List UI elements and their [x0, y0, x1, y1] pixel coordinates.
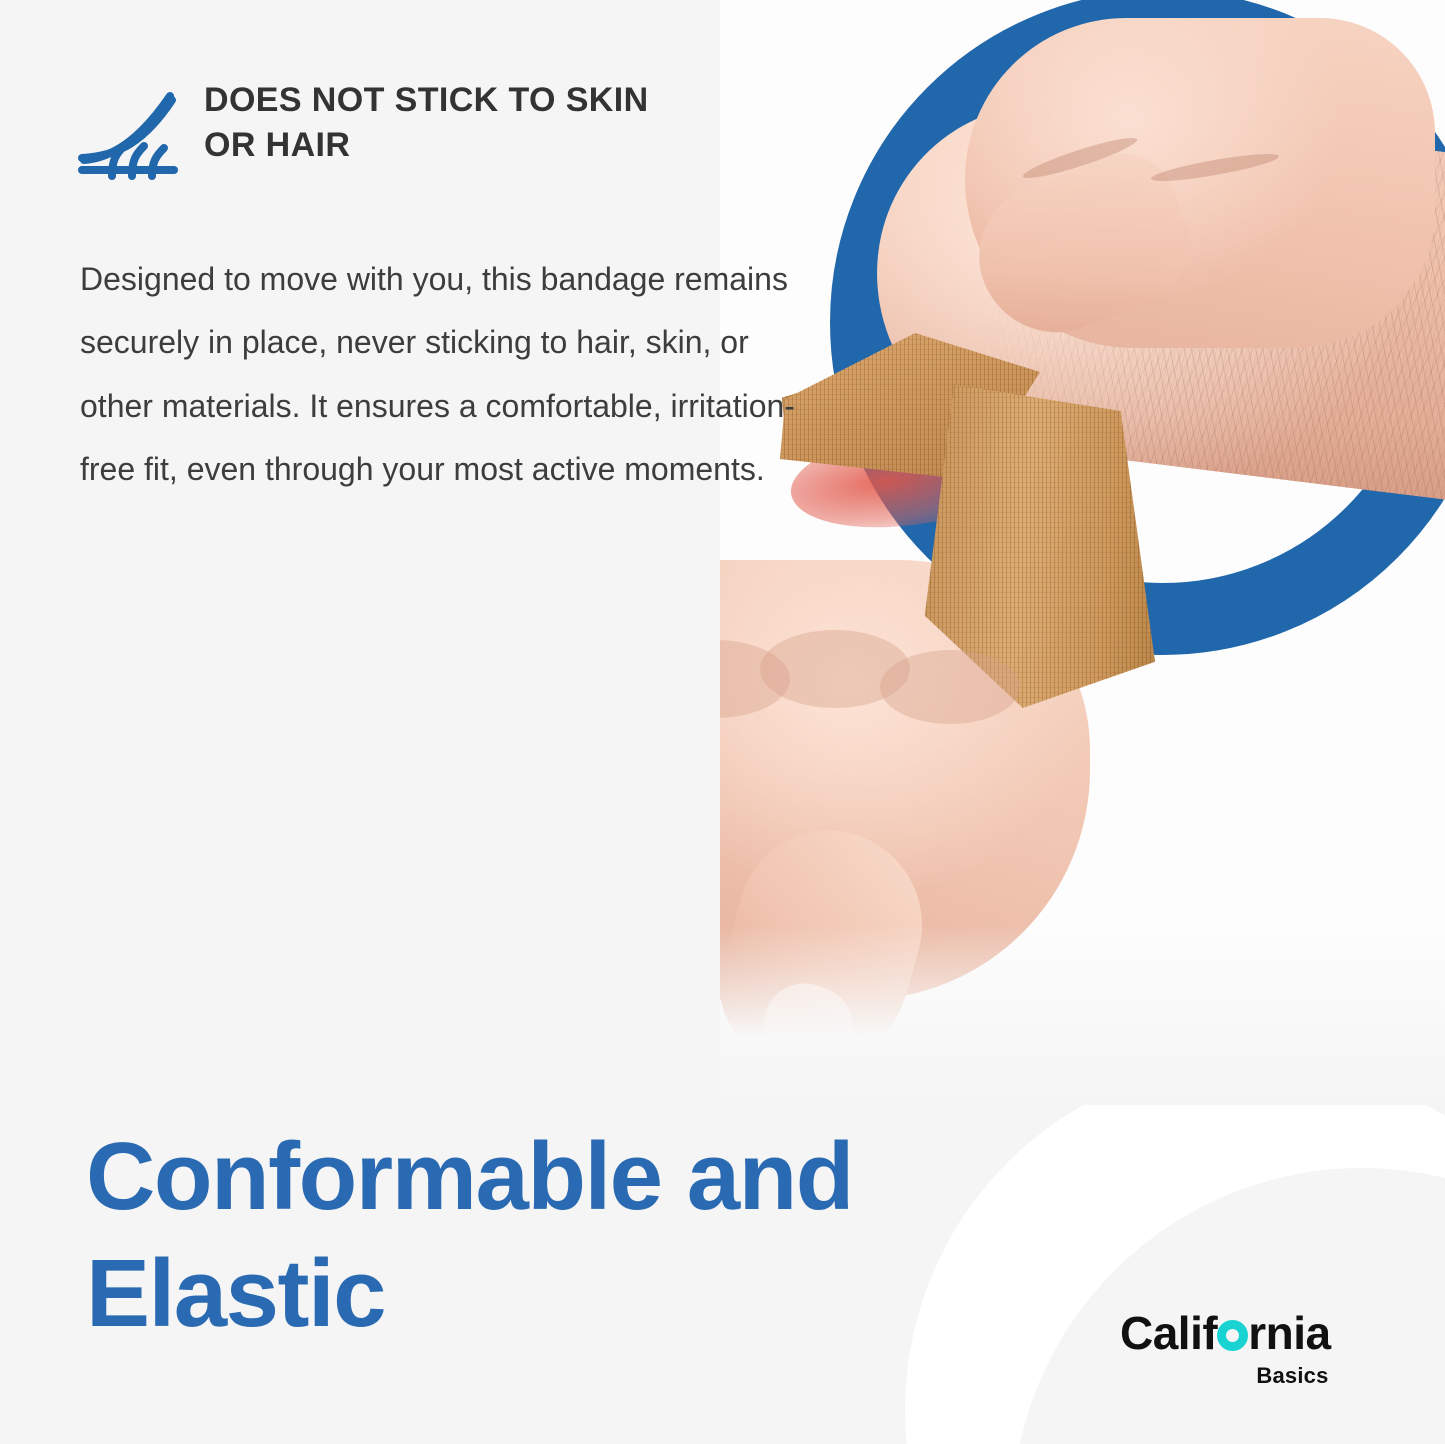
product-photo	[720, 0, 1445, 1105]
brand-subtitle: Basics	[1120, 1365, 1329, 1387]
feature-heading-group: DOES NOT STICK TO SKIN OR HAIR	[78, 78, 698, 180]
brand-name: Califrnia	[1120, 1310, 1331, 1356]
brand-name-part2: rnia	[1248, 1307, 1330, 1359]
brand-logo: Califrnia Basics	[1120, 1310, 1331, 1387]
bandage-over-hair-icon	[78, 84, 182, 180]
photo-bottom-fade	[720, 925, 1445, 1105]
page-headline: Conformable and Elastic	[86, 1118, 946, 1352]
product-feature-card: DOES NOT STICK TO SKIN OR HAIR Designed …	[0, 0, 1445, 1444]
feature-title: DOES NOT STICK TO SKIN OR HAIR	[204, 78, 698, 168]
brand-name-part1: Calif	[1120, 1307, 1217, 1359]
knuckle	[880, 650, 1020, 724]
feature-description: Designed to move with you, this bandage …	[80, 248, 820, 501]
brand-o-ring-icon	[1217, 1320, 1248, 1351]
